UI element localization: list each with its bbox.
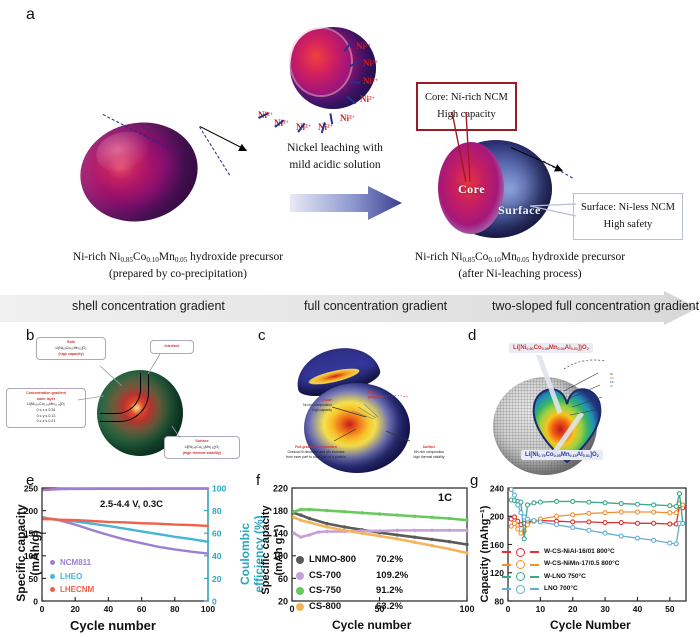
ni-rich-precursor-particle [71,112,207,232]
chart-e-plot: 020406080100050100150200250020406080100 [0,472,250,637]
svg-text:150: 150 [24,529,38,539]
svg-text:80: 80 [170,604,180,614]
legend-marker-icon [296,603,304,611]
svg-text:200: 200 [490,512,504,522]
svg-text:30: 30 [600,604,610,614]
banner-item-2: two-sloped full concentration gradient [492,299,699,313]
caption-left-formula: Ni-rich Ni0.85Co0.10Mn0.05 hydroxide pre… [28,249,328,266]
svg-text:240: 240 [490,483,504,493]
chart-e-legend: NCM811LHEOLHECNM [50,556,94,597]
legend-line-icon [502,588,511,590]
caption-left-sub: (prepared by co-precipitation) [28,266,328,283]
svg-text:100: 100 [24,551,38,561]
svg-text:20: 20 [278,596,288,606]
legend-marker-icon [516,572,525,581]
caption-left: Ni-rich Ni0.85Co0.10Mn0.05 hydroxide pre… [28,249,328,282]
panel-d-top-label: Li[Ni0.90Co0.05Mn0.04Al0.01])O2 [509,343,593,353]
chart-f: f Specific capacity (mAh g⁻¹) Cycle numb… [250,472,485,637]
svg-text:40: 40 [212,551,222,561]
callout-surface-line2: High safety [581,216,675,233]
process-arrow-icon [290,186,402,220]
legend-label: CS-700 [309,568,371,584]
panel-b-interface-head: Interface [154,344,190,350]
svg-text:50: 50 [665,604,675,614]
legend-line-icon-2 [530,576,539,578]
svg-text:0: 0 [33,596,38,606]
panel-b-leaders [60,352,235,452]
svg-text:40: 40 [104,604,114,614]
leaching-line-2: mild acidic solution [270,157,400,174]
panel-d-letter: d [468,327,476,344]
legend-retention: 70.2% [376,552,403,568]
chart-g-legend: W-CS-NiAl-16/01 800°CW-CS-NiMn-17/0.5 80… [502,546,619,595]
chart-f-legend: LNMO-80070.2%CS-700109.2%CS-75091.2%CS-8… [296,552,408,615]
svg-text:0: 0 [289,604,294,614]
callout-surface-leader [530,198,578,222]
legend-label: W-CS-NiAl-16/01 800°C [544,546,615,558]
panel-b-letter: b [26,327,34,344]
svg-text:80: 80 [212,506,222,516]
svg-text:20: 20 [568,604,578,614]
gradient-banner: shell concentration gradient full concen… [0,295,700,322]
svg-text:80: 80 [495,596,505,606]
legend-marker-icon [50,560,55,565]
leaching-line-1: Nickel leaching with [270,140,400,157]
legend-retention: 91.2% [376,583,403,599]
legend-label: CS-800 [309,599,371,615]
legend-label: LHEO [60,570,82,584]
legend-label: W-CS-NiMn-17/0.5 800°C [544,558,619,570]
legend-marker-icon [50,574,55,579]
svg-text:200: 200 [24,506,38,516]
chart-g: g Capacity (mAhg⁻¹) Cycle Number 0102030… [468,472,700,637]
legend-retention: 63.2% [376,599,403,615]
leached-particle-face [291,29,351,95]
chart-g-legend-item: LNO 700°C [502,583,619,595]
legend-label: NCM811 [60,556,91,570]
svg-text:250: 250 [24,483,38,493]
svg-text:60: 60 [278,574,288,584]
panel-a-letter: a [26,6,35,24]
svg-text:0: 0 [40,604,45,614]
caption-right: Ni-rich Ni0.85Co0.10Mn0.05 hydroxide pre… [370,249,670,282]
legend-line-icon [502,564,511,566]
svg-text:10: 10 [536,604,546,614]
banner-item-0: shell concentration gradient [72,299,225,313]
legend-label: LNO 700°C [544,583,578,595]
svg-text:60: 60 [212,529,222,539]
ni-ion-label: Ni2+ [363,58,378,68]
legend-label: W-LNO 750°C [544,571,586,583]
legend-marker-icon [516,560,525,569]
legend-line-icon [502,576,511,578]
chart-e-legend-item: NCM811 [50,556,94,570]
chart-e-legend-item: LHECNM [50,583,94,597]
legend-label: LNMO-800 [309,552,371,568]
legend-retention: 109.2% [376,568,408,584]
svg-text:0: 0 [212,596,217,606]
svg-text:0: 0 [506,604,511,614]
panel-d-legend-3: Al [610,384,614,388]
callout-surface-line1: Surface: Ni-less NCM [581,199,675,216]
legend-line-icon-2 [530,588,539,590]
panel-a: a Ni2+Ni2+Ni2+Ni2+Ni2+Ni2+Ni2+Ni2+Ni2+ N… [0,0,700,292]
chart-f-legend-item: CS-75091.2% [296,583,408,599]
svg-text:140: 140 [273,529,288,539]
callout-core-leader [430,112,490,192]
chart-g-legend-item: W-CS-NiMn-17/0.5 800°C [502,558,619,570]
legend-marker-icon [296,556,304,564]
callout-surface: Surface: Ni-less NCM High safety [573,193,683,240]
svg-text:40: 40 [633,604,643,614]
legend-marker-icon [296,587,304,595]
banner-item-1: full concentration gradient [304,299,447,313]
chart-f-legend-item: CS-80063.2% [296,599,408,615]
figure-root: a Ni2+Ni2+Ni2+Ni2+Ni2+Ni2+Ni2+Ni2+Ni2+ N… [0,0,700,637]
caption-right-formula: Ni-rich Ni0.85Co0.10Mn0.05 hydroxide pre… [370,249,670,266]
svg-text:220: 220 [273,483,288,493]
chart-g-legend-item: W-LNO 750°C [502,571,619,583]
svg-text:20: 20 [70,604,80,614]
legend-line-icon-2 [530,564,539,566]
chart-f-legend-item: LNMO-80070.2% [296,552,408,568]
nickel-leaching-text: Nickel leaching with mild acidic solutio… [270,140,400,175]
legend-label: CS-750 [309,583,371,599]
svg-text:20: 20 [212,574,222,584]
ni-ion-label: Ni2+ [340,113,355,123]
callout-core-line1: Core: Ni-rich NCM [425,89,508,106]
legend-marker-icon [516,548,525,557]
ni-ion-label: Ni2+ [356,41,371,51]
panel-c-letter: c [258,327,266,344]
legend-marker-icon [296,572,304,580]
svg-text:60: 60 [137,604,147,614]
legend-line-icon-2 [530,551,539,553]
legend-line-icon [502,551,511,553]
chart-f-legend-item: CS-700109.2% [296,568,408,584]
svg-text:100: 100 [273,551,288,561]
svg-text:50: 50 [29,574,39,584]
panel-c-leaders [270,385,470,465]
legend-marker-icon [516,585,525,594]
chart-e: e Specific capacity (mAh/g) Coulombic ef… [0,472,250,637]
panel-d-legend: Ni Co Mn Al [610,372,614,388]
svg-text:100: 100 [212,483,226,493]
legend-marker-icon [50,587,55,592]
ni-ion-label: Ni2+ [360,94,375,104]
svg-text:180: 180 [273,506,288,516]
chart-e-legend-item: LHEO [50,570,94,584]
caption-right-sub: (after Ni-leaching process) [370,266,670,283]
legend-label: LHECNM [60,583,94,597]
chart-g-legend-item: W-CS-NiAl-16/01 800°C [502,546,619,558]
ni-ion-label: Ni2+ [363,76,378,86]
